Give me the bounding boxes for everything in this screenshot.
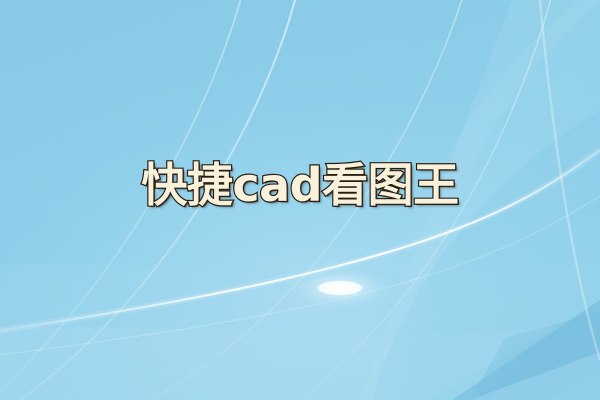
page-title: 快捷cad看图王 xyxy=(141,162,458,208)
title-layer: 快捷cad看图王 xyxy=(0,0,600,400)
banner-image: 快捷cad看图王 xyxy=(0,0,600,400)
